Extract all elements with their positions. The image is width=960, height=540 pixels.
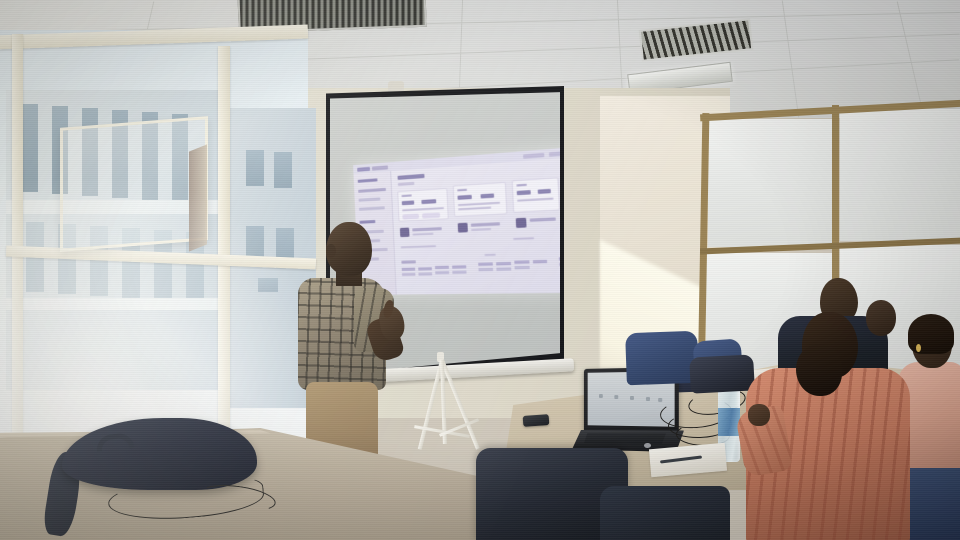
hp-logo-icon (644, 443, 651, 448)
slide-topbar-item (523, 153, 544, 159)
slide-tile-icon (458, 223, 468, 233)
open-awning-window[interactable] (60, 116, 208, 252)
glass-pane (840, 109, 960, 241)
attendee-c-hair (908, 314, 954, 354)
attendee-b-hair (796, 344, 842, 396)
navy-chair[interactable] (625, 331, 699, 385)
slide-tile-icon (565, 215, 575, 224)
foreground-chair-second[interactable] (600, 486, 730, 540)
smartphone[interactable] (523, 414, 550, 427)
bottle-label (718, 408, 740, 436)
glass-pane (708, 119, 832, 247)
slide-brand-text (372, 165, 388, 170)
conference-room-photo: Conference room presentation (0, 0, 960, 540)
attendee-woman-striped-top (740, 312, 910, 540)
slide-metric-card (397, 188, 449, 222)
laptop-keyboard[interactable] (584, 433, 666, 444)
slide-logo-icon (357, 166, 370, 171)
earring-icon (916, 344, 921, 352)
window-opening-gap (189, 144, 207, 251)
slide-metric-card (453, 182, 508, 217)
slide-metric-card (512, 177, 561, 213)
slide-tile-icon (516, 218, 527, 228)
attendee-b-hand (748, 404, 770, 426)
presenter-ear (326, 244, 336, 258)
